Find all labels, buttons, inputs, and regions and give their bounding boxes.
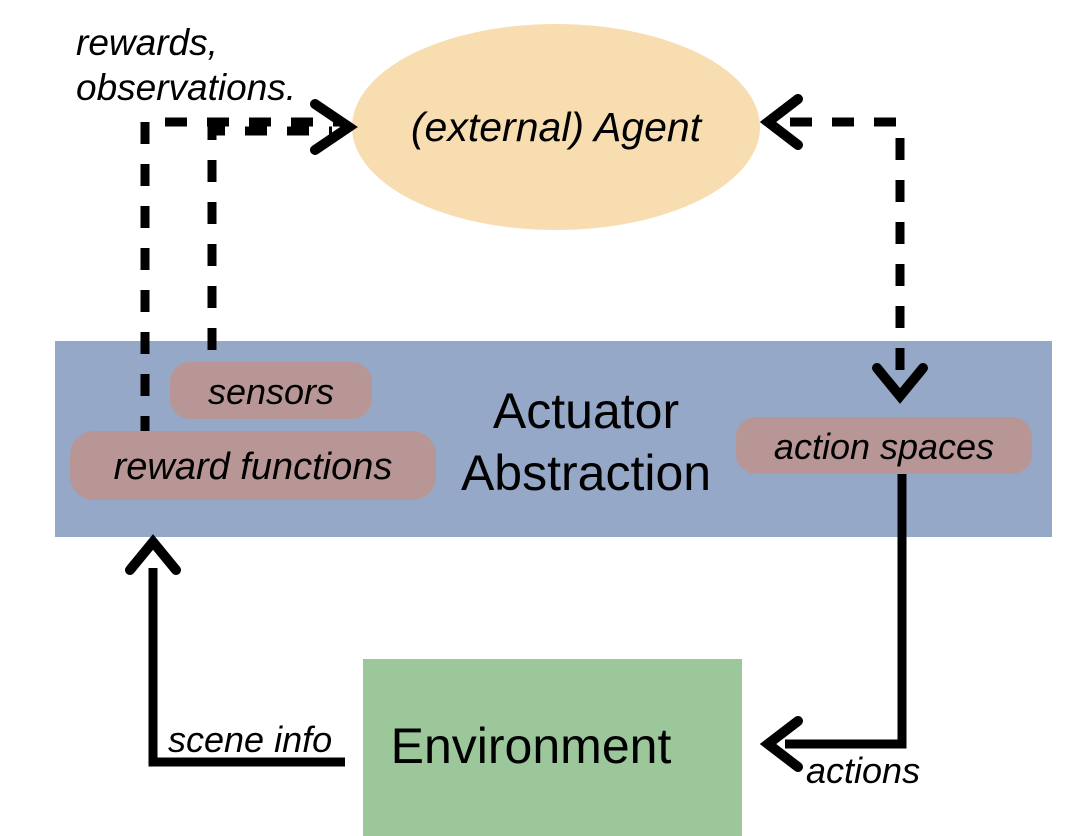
diagram-canvas: rewards, observations. (external) Agent … — [0, 0, 1091, 836]
edge-label-rewards-line1: rewards, — [76, 22, 218, 63]
agent-label: (external) Agent — [411, 104, 703, 150]
abstraction-label-line2: Abstraction — [461, 445, 711, 501]
edge-label-rewards-line2: observations. — [76, 67, 296, 108]
pill-label-action-spaces: action spaces — [774, 426, 994, 467]
edge-label-actions: actions — [806, 750, 920, 791]
edge-label-scene-info: scene info — [168, 719, 332, 760]
environment-label: Environment — [391, 718, 672, 774]
abstraction-label-line1: Actuator — [493, 383, 679, 439]
pill-label-sensors: sensors — [208, 371, 334, 412]
architecture-diagram: rewards, observations. (external) Agent … — [0, 0, 1091, 836]
pill-label-reward-functions: reward functions — [114, 446, 393, 488]
arrowhead-scene-info-icon — [130, 542, 176, 570]
edge-agent-to-action-spaces — [790, 122, 900, 372]
